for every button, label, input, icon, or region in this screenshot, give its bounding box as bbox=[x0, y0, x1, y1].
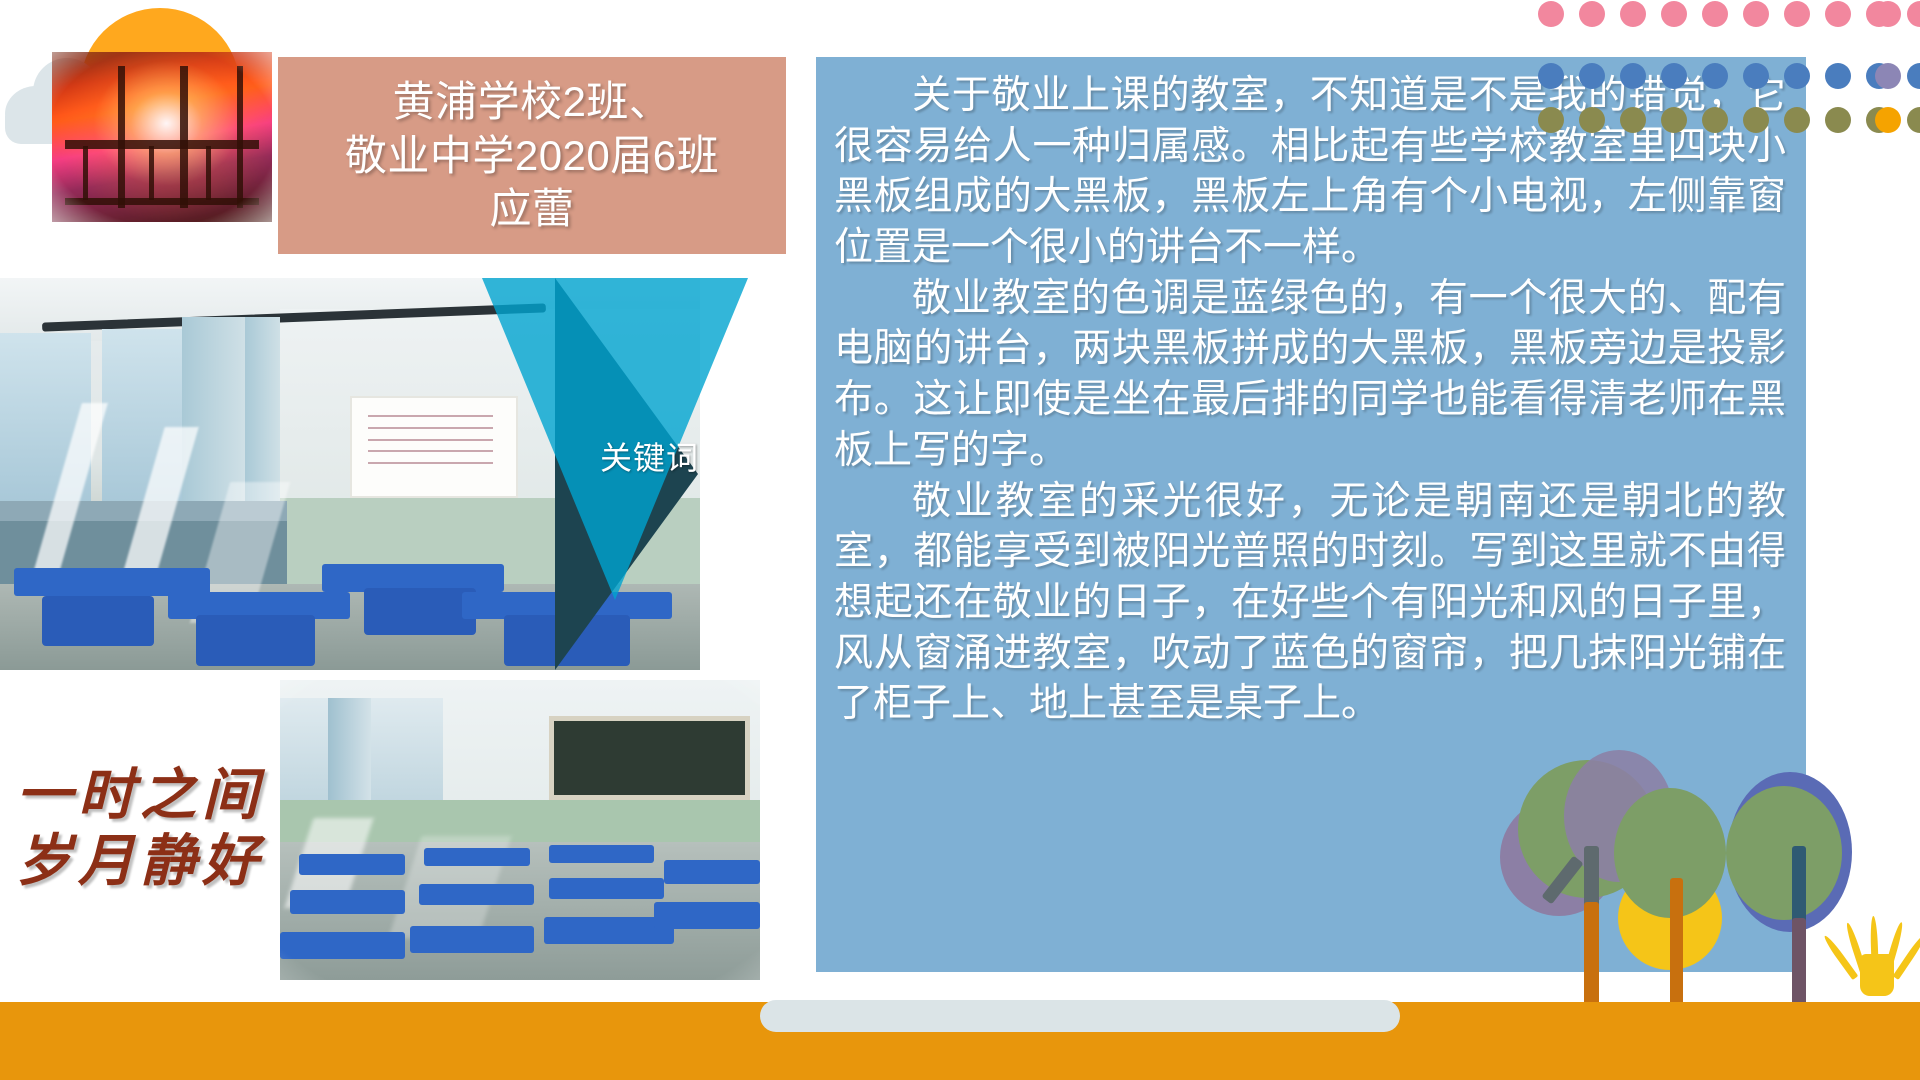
decor-dot bbox=[1661, 63, 1687, 89]
decor-dot bbox=[1784, 63, 1810, 89]
calligraphy-text: 一时之间 岁月静好 bbox=[16, 762, 296, 894]
decor-dot bbox=[1538, 63, 1564, 89]
decor-dot bbox=[1907, 1, 1920, 27]
decor-dot bbox=[1743, 1, 1769, 27]
decor-dot bbox=[1538, 107, 1564, 133]
decor-dot bbox=[1702, 107, 1728, 133]
decor-dot bbox=[1743, 63, 1769, 89]
decor-dot bbox=[1702, 1, 1728, 27]
decor-dot bbox=[1620, 63, 1646, 89]
photo-classroom-desks bbox=[280, 680, 760, 980]
decor-dot bbox=[1907, 107, 1920, 133]
decor-dot bbox=[1620, 107, 1646, 133]
decor-dot bbox=[1579, 1, 1605, 27]
title-band: 黄浦学校2班、 敬业中学2020届6班 应蕾 bbox=[278, 57, 786, 254]
decor-dot bbox=[1743, 107, 1769, 133]
keyword-label: 关键词 bbox=[600, 430, 760, 486]
paragraph-3: 敬业教室的采光很好，无论是朝南还是朝北的教室，都能享受到被阳光普照的时刻。写到这… bbox=[834, 477, 1786, 730]
decor-dot bbox=[1784, 107, 1810, 133]
decor-dot bbox=[1661, 107, 1687, 133]
decor-dot bbox=[1538, 1, 1564, 27]
decor-dot bbox=[1825, 1, 1851, 27]
page-title: 黄浦学校2班、 敬业中学2020届6班 应蕾 bbox=[345, 75, 719, 236]
decor-dot bbox=[1661, 1, 1687, 27]
decor-dot bbox=[1702, 63, 1728, 89]
decor-dot bbox=[1825, 63, 1851, 89]
photo-sunset-window bbox=[52, 52, 272, 222]
decorative-dot-grid bbox=[1500, 0, 1920, 230]
paragraph-2: 敬业教室的色调是蓝绿色的，有一个很大的、配有电脑的讲台，两块黑板拼成的大黑板，黑… bbox=[834, 274, 1786, 477]
slide-canvas: 黄浦学校2班、 敬业中学2020届6班 应蕾 关键词 bbox=[0, 0, 1920, 1080]
decor-dot bbox=[1875, 63, 1901, 89]
decor-dot bbox=[1579, 63, 1605, 89]
decor-dot bbox=[1579, 107, 1605, 133]
decor-dot bbox=[1907, 63, 1920, 89]
decor-dot bbox=[1825, 107, 1851, 133]
decor-dot bbox=[1875, 107, 1901, 133]
bottom-capsule-shape bbox=[760, 1000, 1400, 1032]
decor-dot bbox=[1620, 1, 1646, 27]
decor-dot bbox=[1875, 1, 1901, 27]
decor-dot bbox=[1784, 1, 1810, 27]
